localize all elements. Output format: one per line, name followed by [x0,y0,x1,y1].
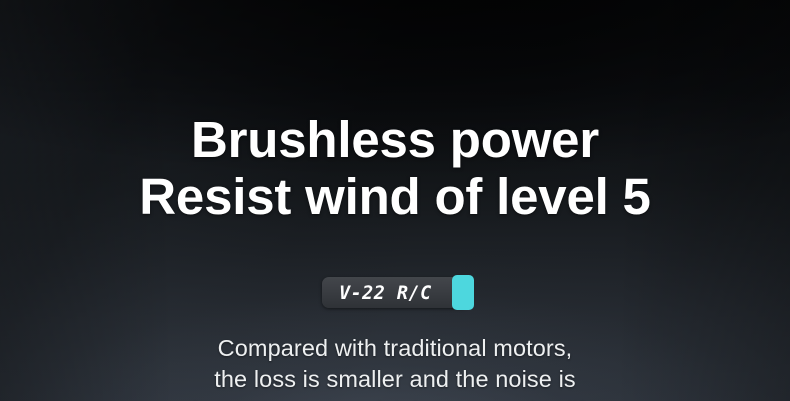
subtitle-line-2: the loss is smaller and the noise is [193,364,598,395]
headline: Brushless power Resist wind of level 5 [139,111,650,225]
accent-chip-icon [452,275,474,310]
banner-content: Brushless power Resist wind of level 5 V… [0,0,790,401]
subtitle-line-3: lowerMore powerful, longer service life [193,395,598,401]
headline-line-2: Resist wind of level 5 [139,168,650,225]
subtitle: Compared with traditional motors, the lo… [193,333,598,401]
product-badge-label: V-22 R/C [339,282,432,304]
headline-line-1: Brushless power [139,111,650,168]
promo-banner: Brushless power Resist wind of level 5 V… [0,0,790,401]
product-badge-wrapper: V-22 R/C [322,277,469,308]
subtitle-line-1: Compared with traditional motors, [193,333,598,364]
product-badge: V-22 R/C [322,277,469,308]
